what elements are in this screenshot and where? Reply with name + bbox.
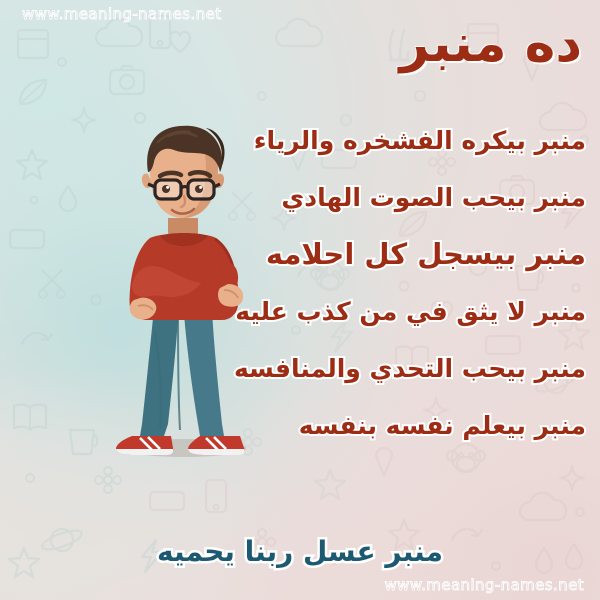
meaning-line-3: منبر بيسجل كل احلامه (156, 226, 586, 283)
page-title: ده منبر (400, 18, 582, 70)
footer-blessing-line: منبر عسل ربنا يحميه (0, 535, 600, 568)
meaning-line-2: منبر بيحب الصوت الهادي (156, 169, 586, 226)
name-meaning-card: www.meaning-names.net ده منبر منبر بيكره… (0, 0, 600, 600)
meaning-line-4: منبر لا يثق في من كذب عليه (156, 283, 586, 340)
title-text: ده منبر (400, 14, 582, 74)
meaning-line-6: منبر بيعلم نفسه بنفسه (156, 397, 586, 454)
meaning-line-1: منبر بيكره الفشخره والرياء (156, 112, 586, 169)
meaning-line-5: منبر بيحب التحدي والمنافسه (156, 340, 586, 397)
meaning-lines-list: منبر بيكره الفشخره والرياء منبر بيحب الص… (156, 112, 586, 454)
